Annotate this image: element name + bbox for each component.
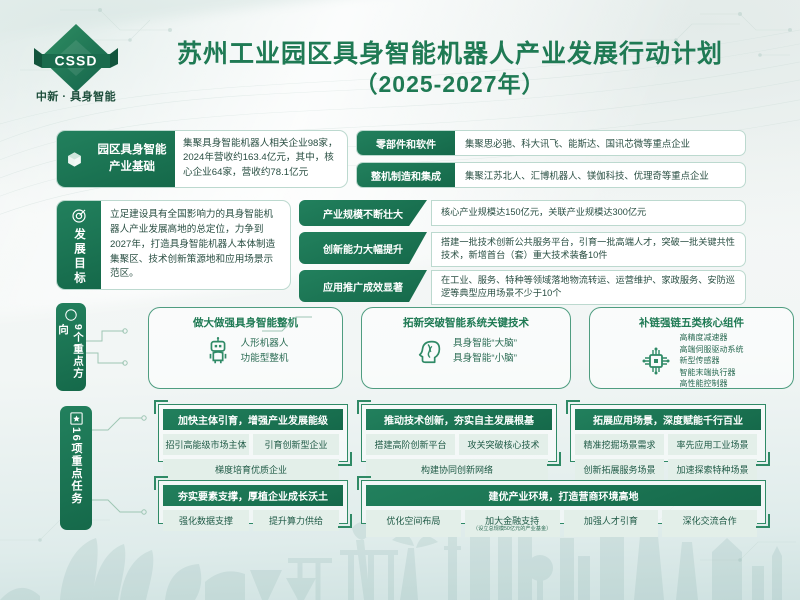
goals-summary-text: 立足建设具有全国影响力的具身智能机器人产业发展高地的总定位，力争到2027年，打… xyxy=(101,201,290,289)
goal-row[interactable]: 创新能力大幅提升 搭建一批技术创新公共服务平台，引育一批高端人才，突破一批关键共… xyxy=(299,232,746,264)
direction-title: 补链强链五类核心组件 xyxy=(590,315,793,330)
task-card[interactable]: 建优产业环境，打造营商环境高地 优化空间布局 加大金融支持 （设立总规模50亿元… xyxy=(361,480,766,524)
task-item[interactable]: 构建协同创新网络 xyxy=(366,459,548,480)
task-card[interactable]: 推动技术创新，夯实自主发展根基 搭建高阶创新平台 攻关突破核心技术 构建协同创新… xyxy=(361,404,557,462)
task-item[interactable]: 加大金融支持 （设立总规模50亿元的产业基金） xyxy=(465,510,560,537)
task-item-list: 搭建高阶创新平台 攻关突破核心技术 构建协同创新网络 xyxy=(366,434,552,484)
task-item-list: 强化数据支撑 提升算力供给 xyxy=(163,510,343,535)
directions-badge-label: 9个重点方向 xyxy=(56,324,86,391)
goals-badge-label: 发展目标 xyxy=(71,228,87,286)
task-card-title: 加快主体引育，增强产业发展能级 xyxy=(163,409,343,430)
goal-label: 产业规模不断壮大 xyxy=(299,200,427,226)
task-card-title: 夯实要素支撑，厚植企业成长沃土 xyxy=(163,485,343,506)
industry-base-summary-text: 集聚具身智能机器人相关企业98家，2024年营收约163.4亿元，其中，核心企业… xyxy=(175,131,347,187)
task-item-list: 优化空间布局 加大金融支持 （设立总规模50亿元的产业基金） 加强人才引育 深化… xyxy=(366,510,761,541)
row-label: 零部件和软件 xyxy=(357,131,455,155)
task-item[interactable]: 加速探索特种场景 xyxy=(668,459,757,480)
section-key-tasks: 16项重点任务 加快主体引育，增强产业发展能级 招引高能级市场主体 引育创新型企… xyxy=(56,400,746,540)
task-item[interactable]: 优化空间布局 xyxy=(366,510,461,537)
direction-card[interactable]: 拓新突破智能系统关键技术 具身智能“大脑” 具身智能“小脑” xyxy=(361,307,571,389)
page-header: CSSD 中新 · 具身智能 苏州工业园区具身智能机器人产业发展行动计划 （20… xyxy=(0,0,800,120)
page-subtitle: （2025-2027年） xyxy=(120,71,780,99)
goal-label: 创新能力大幅提升 xyxy=(299,232,427,264)
industry-base-row[interactable]: 整机制造和集成 集聚江苏北人、汇博机器人、镁伽科技、优理奇等重点企业 xyxy=(356,162,746,188)
task-item[interactable]: 创新拓展服务场景 xyxy=(575,459,664,480)
task-item-list: 精准挖掘场景需求 率先应用工业场景 创新拓展服务场景 加速探索特种场景 xyxy=(575,434,761,484)
compass-icon xyxy=(64,308,78,322)
goal-row[interactable]: 产业规模不断壮大 核心产业规模达150亿元，关联产业规模达300亿元 xyxy=(299,200,746,226)
task-card-title: 建优产业环境，打造营商环境高地 xyxy=(366,485,761,506)
goal-row[interactable]: 应用推广成效显著 在工业、服务、特种等领域落地物流转运、运营维护、家政服务、安防… xyxy=(299,270,746,302)
task-item[interactable]: 引育创新型企业 xyxy=(253,434,339,455)
directions-badge: 9个重点方向 xyxy=(56,303,86,391)
task-item[interactable]: 攻关突破核心技术 xyxy=(459,434,548,455)
goal-label: 应用推广成效显著 xyxy=(299,270,427,302)
logo-caption: 中新 · 具身智能 xyxy=(24,88,128,104)
task-card[interactable]: 夯实要素支撑，厚植企业成长沃土 强化数据支撑 提升算力供给 xyxy=(158,480,348,524)
section-development-goals: 发展目标 立足建设具有全国影响力的具身智能机器人产业发展高地的总定位，力争到20… xyxy=(56,200,746,290)
direction-items: 高精度减速器 高端伺服驱动系统 新型传感器 智能末端执行器 高性能控制器 xyxy=(680,332,744,390)
task-card[interactable]: 加快主体引育，增强产业发展能级 招引高能级市场主体 引育创新型企业 梯度培育优质… xyxy=(158,404,348,462)
direction-title: 拓新突破智能系统关键技术 xyxy=(362,315,570,330)
direction-item: 高性能控制器 xyxy=(680,378,744,390)
task-item[interactable]: 加强人才引育 xyxy=(564,510,659,537)
svg-text:CSSD: CSSD xyxy=(55,53,98,69)
star-box-icon xyxy=(69,411,84,426)
brain-head-icon xyxy=(415,336,445,366)
cube-icon xyxy=(66,151,83,168)
task-item[interactable]: 精准挖掘场景需求 xyxy=(575,434,664,455)
industry-base-rows: 零部件和软件 集聚思必驰、科大讯飞、能斯达、国讯芯微等重点企业 整机制造和集成 … xyxy=(356,130,746,194)
goals-rows: 产业规模不断壮大 核心产业规模达150亿元，关联产业规模达300亿元 创新能力大… xyxy=(299,200,746,308)
industry-base-row[interactable]: 零部件和软件 集聚思必驰、科大讯飞、能斯达、国讯芯微等重点企业 xyxy=(356,130,746,156)
task-item[interactable]: 提升算力供给 xyxy=(253,510,339,531)
task-item[interactable]: 率先应用工业场景 xyxy=(668,434,757,455)
section-key-directions: 9个重点方向 做大做强具身智能整机 人形机器人 xyxy=(56,303,746,395)
title-block: 苏州工业园区具身智能机器人产业发展行动计划 （2025-2027年） xyxy=(120,40,780,98)
goal-value: 在工业、服务、特种等领域落地物流转运、运营维护、家政服务、安防巡逻等典型应用场景… xyxy=(431,270,746,305)
row-label: 整机制造和集成 xyxy=(357,163,455,187)
direction-item: 具身智能“大脑” xyxy=(453,336,517,351)
industry-base-summary-card: 园区具身智能 产业基础 集聚具身智能机器人相关企业98家，2024年营收约163… xyxy=(56,130,348,188)
task-item-note: （设立总规模50亿元的产业基金） xyxy=(467,527,558,533)
industry-base-badge: 园区具身智能 产业基础 xyxy=(57,131,175,187)
task-card-title: 推动技术创新，夯实自主发展根基 xyxy=(366,409,552,430)
tasks-connectors xyxy=(90,404,160,534)
target-icon xyxy=(71,208,87,224)
section-industry-base: 园区具身智能 产业基础 集聚具身智能机器人相关企业98家，2024年营收约163… xyxy=(56,130,746,188)
row-value: 集聚江苏北人、汇博机器人、镁伽科技、优理奇等重点企业 xyxy=(455,163,745,187)
task-item[interactable]: 搭建高阶创新平台 xyxy=(366,434,455,455)
direction-item: 高端伺服驱动系统 xyxy=(680,344,744,356)
direction-card[interactable]: 补链强链五类核心组件 高精度减速器 高端伺服驱动系统 新型传 xyxy=(589,307,794,389)
directions-connectors xyxy=(84,313,314,393)
task-item[interactable]: 招引高能级市场主体 xyxy=(163,434,249,455)
direction-item: 新型传感器 xyxy=(680,355,744,367)
task-card-title: 拓展应用场景，深度赋能千行百业 xyxy=(575,409,761,430)
goal-value: 搭建一批技术创新公共服务平台，引育一批高端人才，突破一批关键共性技术，新增首台（… xyxy=(431,232,746,267)
tasks-badge: 16项重点任务 xyxy=(60,406,92,530)
task-card[interactable]: 拓展应用场景，深度赋能千行百业 精准挖掘场景需求 率先应用工业场景 创新拓展服务… xyxy=(570,404,766,462)
task-item[interactable]: 深化交流合作 xyxy=(662,510,757,537)
task-item[interactable]: 强化数据支撑 xyxy=(163,510,249,531)
goals-summary-card: 发展目标 立足建设具有全国影响力的具身智能机器人产业发展高地的总定位，力争到20… xyxy=(56,200,291,290)
task-item-list: 招引高能级市场主体 引育创新型企业 梯度培育优质企业 xyxy=(163,434,343,484)
direction-item: 具身智能“小脑” xyxy=(453,351,517,366)
industry-base-badge-label: 园区具身智能 产业基础 xyxy=(89,142,175,175)
task-item-label: 加大金融支持 xyxy=(485,516,539,526)
row-value: 集聚思必驰、科大讯飞、能斯达、国讯芯微等重点企业 xyxy=(455,131,745,155)
direction-item: 高精度减速器 xyxy=(680,332,744,344)
chip-icon xyxy=(640,345,672,377)
direction-body: 高精度减速器 高端伺服驱动系统 新型传感器 智能末端执行器 高性能控制器 xyxy=(590,332,793,390)
task-item[interactable]: 梯度培育优质企业 xyxy=(163,459,339,480)
goals-badge: 发展目标 xyxy=(57,201,101,289)
direction-body: 具身智能“大脑” 具身智能“小脑” xyxy=(362,336,570,367)
direction-items: 具身智能“大脑” 具身智能“小脑” xyxy=(453,336,517,367)
goal-value: 核心产业规模达150亿元，关联产业规模达300亿元 xyxy=(431,200,746,226)
page-title: 苏州工业园区具身智能机器人产业发展行动计划 xyxy=(120,40,780,69)
tasks-badge-label: 16项重点任务 xyxy=(68,427,84,505)
direction-item: 智能末端执行器 xyxy=(680,367,744,379)
